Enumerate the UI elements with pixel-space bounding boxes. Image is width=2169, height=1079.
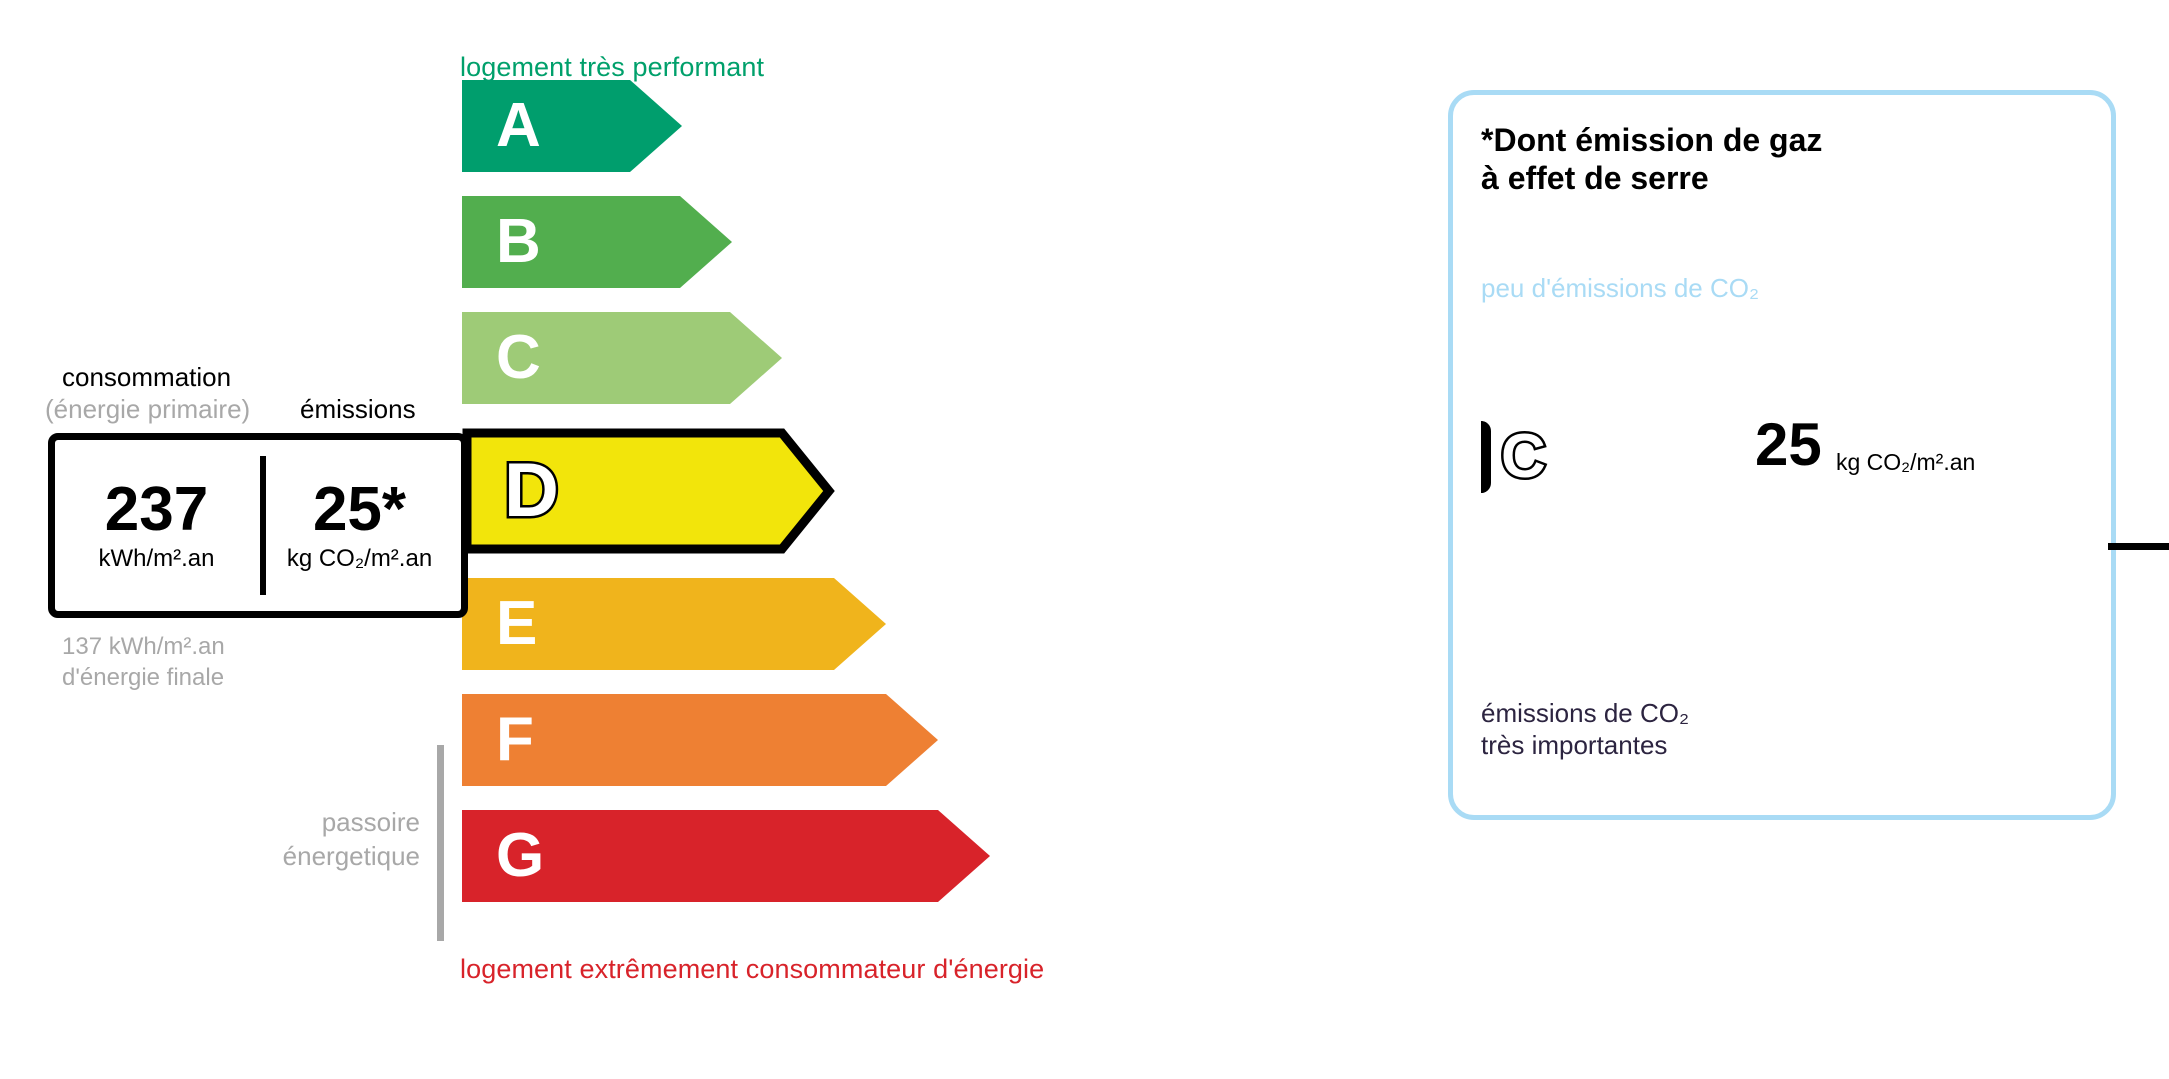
consumption-sublabel: (énergie primaire) bbox=[45, 394, 250, 425]
ges-bar-letter-b: B bbox=[1495, 372, 1521, 408]
emission-unit: kg CO₂/m².an bbox=[287, 545, 432, 573]
consumption-unit: kWh/m².an bbox=[98, 545, 214, 573]
emission-value: 25* bbox=[313, 478, 406, 541]
band-letter-g: G bbox=[496, 825, 544, 887]
energy-band-b: B bbox=[462, 196, 732, 288]
chart-bottom-caption: logement extrêmement consommateur d'éner… bbox=[460, 954, 1044, 985]
ges-bar-letter-g: G bbox=[1495, 662, 1523, 698]
energy-band-a: A bbox=[462, 80, 682, 172]
ges-bar-e: E bbox=[1481, 555, 1749, 597]
ges-bar-letter-f: F bbox=[1495, 610, 1517, 646]
final-energy-label: 137 kWh/m².and'énergie finale bbox=[62, 632, 225, 693]
ges-bar-letter-e: E bbox=[1495, 558, 1519, 594]
consumption-emission-box: 237 kWh/m².an 25* kg CO₂/m².an bbox=[48, 433, 468, 618]
band-letter-b: B bbox=[496, 211, 541, 273]
consumption-cell: 237 kWh/m².an bbox=[55, 440, 258, 611]
ges-panel-title: *Dont émission de gazà effet de serre bbox=[1481, 121, 1822, 198]
band-letter-a: A bbox=[496, 95, 541, 157]
band-letter-c: C bbox=[496, 327, 541, 389]
chart-top-caption: logement très performant bbox=[460, 52, 764, 83]
passoire-label: passoireénergetique bbox=[180, 806, 420, 874]
energy-performance-chart: logement très performant ABCDEFG 237 kWh… bbox=[0, 0, 1380, 1079]
energy-band-g: G bbox=[462, 810, 990, 902]
ges-bar-b: B bbox=[1481, 369, 1631, 411]
ges-callout-unit: kg CO₂/m².an bbox=[1836, 449, 1975, 476]
ges-bar-shape bbox=[1481, 421, 1491, 493]
ges-top-caption: peu d'émissions de CO₂ bbox=[1481, 273, 1759, 304]
ges-bar-f: F bbox=[1481, 607, 1777, 649]
ges-bar-d: D bbox=[1481, 503, 1713, 545]
ges-bar-letter-c: C bbox=[1501, 426, 1546, 488]
ges-bar-a: A bbox=[1481, 317, 1599, 359]
emissions-label: émissions bbox=[300, 394, 416, 425]
ges-bar-g: G bbox=[1481, 659, 1819, 701]
ges-bar-letter-a: A bbox=[1495, 320, 1521, 356]
energy-band-d: D bbox=[462, 428, 834, 554]
ges-callout-line bbox=[2108, 543, 2169, 550]
energy-band-e: E bbox=[462, 578, 886, 670]
passoire-marker-line bbox=[437, 745, 444, 941]
consumption-value: 237 bbox=[105, 478, 208, 541]
band-shape bbox=[462, 80, 682, 172]
ges-bar-c: C bbox=[1481, 421, 1693, 493]
emission-cell: 25* kg CO₂/m².an bbox=[258, 440, 461, 611]
consumption-label: consommation bbox=[62, 362, 231, 393]
ges-bottom-caption: émissions de CO₂très importantes bbox=[1481, 698, 1689, 761]
band-letter-d: D bbox=[504, 453, 559, 529]
ges-callout-value: 25 bbox=[1755, 415, 1822, 475]
band-arrow-icon bbox=[462, 80, 682, 172]
band-letter-e: E bbox=[496, 593, 537, 655]
band-letter-f: F bbox=[496, 709, 534, 771]
ges-bar-letter-d: D bbox=[1495, 506, 1521, 542]
energy-band-c: C bbox=[462, 312, 782, 404]
energy-band-f: F bbox=[462, 694, 938, 786]
